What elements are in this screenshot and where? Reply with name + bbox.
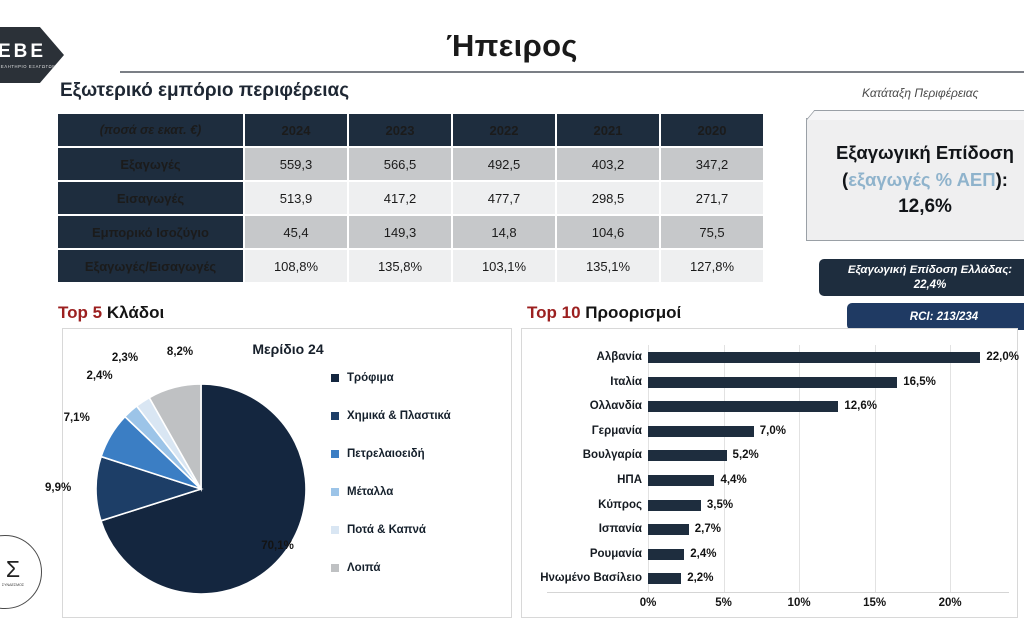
circular-mark-subtitle: ΣΥΝΔΕΣΜΟΣ	[0, 583, 24, 587]
bar-row: Αλβανία22,0%	[522, 345, 1019, 369]
bar	[648, 500, 701, 511]
bar-value-label: 4,4%	[720, 468, 746, 492]
table-header-year: 2021	[557, 114, 659, 146]
export-performance-value: 12,6%	[898, 196, 952, 218]
legend-swatch-icon	[331, 450, 339, 458]
x-axis-tick-label: 10%	[788, 597, 811, 609]
table-cell: 559,3	[245, 148, 347, 180]
bar-row: Κύπρος3,5%	[522, 493, 1019, 517]
bar-category-label: Βουλγαρία	[520, 443, 642, 467]
legend-item: Μέταλλα	[331, 473, 451, 511]
bar-section-heading: Top 10 Προορισμοί	[527, 303, 681, 323]
legend-item: Χημικά & Πλαστικά	[331, 397, 451, 435]
bar-category-label: Ισπανία	[520, 517, 642, 541]
export-performance-title: Εξαγωγική Επίδοση	[836, 142, 1014, 164]
table-cell: 104,6	[557, 216, 659, 248]
table-cell: 135,8%	[349, 250, 451, 282]
circular-brand-mark: Σ ΣΥΝΔΕΣΜΟΣ	[0, 535, 42, 609]
bar-chart-area: Αλβανία22,0%Ιταλία16,5%Ολλανδία12,6%Γερμ…	[522, 329, 1019, 619]
bar-heading-rest: Προορισμοί	[585, 303, 681, 322]
table-row: Εξαγωγές559,3566,5492,5403,2347,2	[58, 148, 763, 180]
legend-label: Ποτά & Καπνά	[347, 524, 426, 536]
bar	[648, 475, 714, 486]
bar-category-label: Αλβανία	[520, 345, 642, 369]
legend-label: Τρόφιμα	[347, 372, 394, 384]
bar-row: Ηνωμένο Βασίλειο2,2%	[522, 566, 1019, 590]
greece-performance-badge: Εξαγωγική Επίδοση Ελλάδας: 22,4%	[819, 259, 1024, 296]
bar-chart-panel: Αλβανία22,0%Ιταλία16,5%Ολλανδία12,6%Γερμ…	[521, 328, 1018, 618]
table-header-year: 2023	[349, 114, 451, 146]
table-cell: 149,3	[349, 216, 451, 248]
table-cell: 75,5	[661, 216, 763, 248]
bar	[648, 573, 681, 584]
legend-label: Μέταλλα	[347, 486, 393, 498]
bar-row: ΗΠΑ4,4%	[522, 468, 1019, 492]
legend-item: Τρόφιμα	[331, 359, 451, 397]
bar-value-label: 2,7%	[695, 517, 721, 541]
bar	[648, 450, 727, 461]
table-cell: 347,2	[661, 148, 763, 180]
circular-mark-glyph: Σ	[0, 558, 20, 581]
table-cell: 513,9	[245, 182, 347, 214]
bar-category-label: Ρουμανία	[520, 542, 642, 566]
x-axis-line	[547, 592, 1009, 593]
legend-swatch-icon	[331, 526, 339, 534]
pie-chart-panel: Μερίδιο 24 70,1%9,9%7,1%2,4%2,3%8,2% Τρό…	[62, 328, 512, 618]
table-cell: 135,1%	[557, 250, 659, 282]
bar-category-label: Ολλανδία	[520, 394, 642, 418]
legend-label: Χημικά & Πλαστικά	[347, 410, 451, 422]
bar-row: Ισπανία2,7%	[522, 517, 1019, 541]
export-performance-metric: εξαγωγές % ΑΕΠ	[848, 169, 995, 190]
pie-slice-label: 70,1%	[261, 540, 294, 552]
rank-caption: Κατάταξη Περιφέρειας	[862, 86, 978, 100]
greece-performance-value: 22,4%	[914, 278, 947, 292]
legend-item: Ποτά & Καπνά	[331, 511, 451, 549]
table-cell: 492,5	[453, 148, 555, 180]
table-header-year: 2020	[661, 114, 763, 146]
x-axis-tick-label: 15%	[863, 597, 886, 609]
table-row-label: Εξαγωγές/Εισαγωγές	[58, 250, 243, 282]
table-cell: 477,7	[453, 182, 555, 214]
x-axis-tick-label: 0%	[640, 597, 657, 609]
legend-swatch-icon	[331, 488, 339, 496]
pie-chart-legend: ΤρόφιμαΧημικά & ΠλαστικάΠετρελαιοειδήΜέτ…	[331, 359, 451, 587]
bar-value-label: 3,5%	[707, 493, 733, 517]
pie-slice-label: 7,1%	[64, 412, 90, 424]
table-cell: 271,7	[661, 182, 763, 214]
export-performance-subtitle: (εξαγωγές % ΑΕΠ):	[842, 169, 1008, 191]
greece-performance-label: Εξαγωγική Επίδοση Ελλάδας:	[848, 263, 1012, 277]
table-cell: 417,2	[349, 182, 451, 214]
brand-logo-subtitle: ΕΠΙΜΕΛΗΤΗΡΙΟ ΕΞΑΓΩΓΩΝ	[0, 64, 56, 69]
bar	[648, 524, 689, 535]
pie-chart-svg	[83, 371, 373, 611]
bar	[648, 352, 980, 363]
table-row: Εισαγωγές513,9417,2477,7298,5271,7	[58, 182, 763, 214]
bar-value-label: 12,6%	[844, 394, 877, 418]
table-header-year: 2022	[453, 114, 555, 146]
bar	[648, 377, 897, 388]
table-cell: 103,1%	[453, 250, 555, 282]
legend-swatch-icon	[331, 374, 339, 382]
bar	[648, 426, 754, 437]
table-cell: 298,5	[557, 182, 659, 214]
page-title: Ήπειρος	[0, 28, 1024, 64]
legend-item: Πετρελαιοειδή	[331, 435, 451, 473]
bar-row: Ολλανδία12,6%	[522, 394, 1019, 418]
bar-category-label: ΗΠΑ	[520, 468, 642, 492]
bar-value-label: 22,0%	[986, 345, 1019, 369]
pie-heading-rest: Κλάδοι	[107, 303, 164, 322]
paren-close: ):	[996, 169, 1008, 190]
section-title: Εξωτερικό εμπόριο περιφέρειας	[60, 80, 349, 102]
table-row: Εξαγωγές/Εισαγωγές108,8%135,8%103,1%135,…	[58, 250, 763, 282]
bar-category-label: Ιταλία	[520, 370, 642, 394]
bar-category-label: Κύπρος	[520, 493, 642, 517]
table-row-label: Εξαγωγές	[58, 148, 243, 180]
bar-heading-top: Top 10	[527, 303, 581, 322]
pie-slice-label: 2,4%	[86, 370, 112, 382]
bar-value-label: 16,5%	[903, 370, 936, 394]
legend-item: Λοιπά	[331, 549, 451, 587]
legend-label: Πετρελαιοειδή	[347, 448, 425, 460]
bar-value-label: 2,4%	[690, 542, 716, 566]
table-cell: 403,2	[557, 148, 659, 180]
legend-swatch-icon	[331, 564, 339, 572]
bar-category-label: Γερμανία	[520, 419, 642, 443]
table-row: Εμπορικό Ισοζύγιο45,4149,314,8104,675,5	[58, 216, 763, 248]
bar-row: Βουλγαρία5,2%	[522, 443, 1019, 467]
pie-slice-label: 8,2%	[167, 346, 193, 358]
bar-category-label: Ηνωμένο Βασίλειο	[520, 566, 642, 590]
bar-value-label: 7,0%	[760, 419, 786, 443]
bar-value-label: 5,2%	[733, 443, 759, 467]
table-cell: 127,8%	[661, 250, 763, 282]
rci-badge: RCI: 213/234	[847, 303, 1024, 330]
bar-value-label: 2,2%	[687, 566, 713, 590]
pie-section-heading: Top 5 Κλάδοι	[58, 303, 164, 323]
pie-heading-top: Top 5	[58, 303, 102, 322]
x-axis-tick-label: 20%	[939, 597, 962, 609]
bar	[648, 549, 684, 560]
legend-label: Λοιπά	[347, 562, 380, 574]
table-row-label: Εμπορικό Ισοζύγιο	[58, 216, 243, 248]
table-cell: 14,8	[453, 216, 555, 248]
table-header-label: (ποσά σε εκατ. €)	[58, 114, 243, 146]
bar-row: Ιταλία16,5%	[522, 370, 1019, 394]
table-header-row: (ποσά σε εκατ. €)20242023202220212020	[58, 114, 763, 146]
table-cell: 566,5	[349, 148, 451, 180]
bar-row: Γερμανία7,0%	[522, 419, 1019, 443]
table-cell: 45,4	[245, 216, 347, 248]
bar-row: Ρουμανία2,4%	[522, 542, 1019, 566]
pie-slice-label: 2,3%	[112, 352, 138, 364]
header-divider	[120, 71, 1024, 73]
table-header-year: 2024	[245, 114, 347, 146]
x-axis-tick-label: 5%	[715, 597, 732, 609]
legend-swatch-icon	[331, 412, 339, 420]
table-row-label: Εισαγωγές	[58, 182, 243, 214]
pie-slice-label: 9,9%	[45, 482, 71, 494]
bar	[648, 401, 838, 412]
export-performance-card: Εξαγωγική Επίδοση (εξαγωγές % ΑΕΠ): 12,6…	[806, 118, 1024, 241]
trade-table: (ποσά σε εκατ. €)20242023202220212020Εξα…	[56, 112, 765, 284]
table-cell: 108,8%	[245, 250, 347, 282]
